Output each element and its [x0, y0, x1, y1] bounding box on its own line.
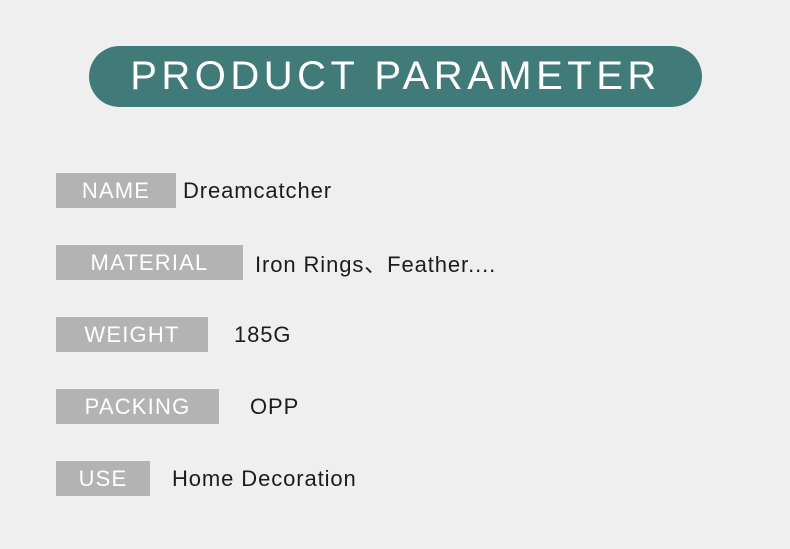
parameter-row-weight: WEIGHT 185G	[56, 317, 756, 352]
parameter-label-material: MATERIAL	[56, 245, 243, 280]
parameter-label-weight: WEIGHT	[56, 317, 208, 352]
parameter-label-name: NAME	[56, 173, 176, 208]
parameter-row-packing: PACKING OPP	[56, 389, 756, 424]
parameter-label-packing: PACKING	[56, 389, 219, 424]
product-parameter-page: PRODUCT PARAMETER NAME Dreamcatcher MATE…	[0, 0, 790, 549]
parameter-value-packing: OPP	[250, 394, 299, 420]
parameter-row-use: USE Home Decoration	[56, 461, 756, 496]
parameter-label-use: USE	[56, 461, 150, 496]
page-title: PRODUCT PARAMETER	[130, 56, 661, 96]
parameter-value-use: Home Decoration	[172, 466, 357, 492]
parameter-list: NAME Dreamcatcher MATERIAL Iron Rings、Fe…	[56, 173, 756, 496]
parameter-value-material: Iron Rings、Feather....	[255, 247, 496, 279]
parameter-value-name: Dreamcatcher	[183, 178, 332, 204]
page-title-banner: PRODUCT PARAMETER	[89, 46, 702, 107]
parameter-row-name: NAME Dreamcatcher	[56, 173, 756, 208]
parameter-value-weight: 185G	[234, 322, 291, 348]
parameter-row-material: MATERIAL Iron Rings、Feather....	[56, 245, 756, 280]
